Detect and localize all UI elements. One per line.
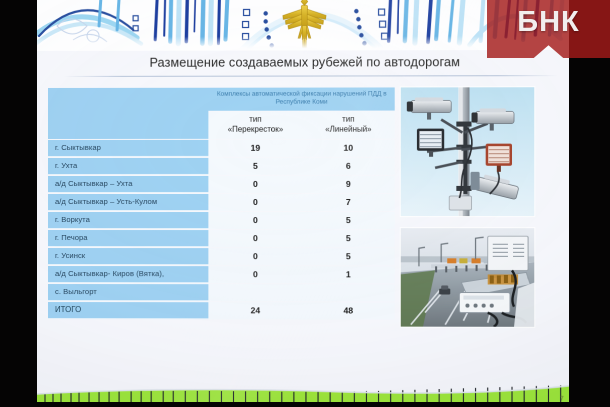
column-header-linear-line1: тип	[342, 114, 354, 123]
row-label: г. Воркута	[48, 212, 209, 229]
table-row: а/д Сыктывкар – Ухта 0 9	[48, 176, 395, 193]
row-crossroad-value: 0	[209, 266, 302, 283]
header-blank-cell	[48, 88, 209, 139]
bnk-watermark-text: БНК	[487, 0, 610, 44]
total-label: ИТОГО	[48, 302, 209, 319]
bnk-watermark-logo: БНК	[487, 0, 610, 58]
total-crossroad-value: 24	[209, 302, 302, 319]
row-crossroad-value: 0	[209, 176, 302, 193]
row-label: г. Сыктывкар	[48, 140, 209, 157]
table-header-group-row: Комплексы автоматической фиксации наруше…	[48, 87, 395, 110]
table-row: с. Выльгорт	[48, 284, 395, 301]
row-linear-value: 1	[302, 266, 395, 283]
column-header-linear-line2: «Линейный»	[325, 124, 371, 133]
row-crossroad-value: 19	[209, 140, 302, 157]
row-label: г. Усинск	[48, 248, 209, 265]
letterbox-left	[0, 0, 37, 407]
row-label: а/д Сыктывкар – Ухта	[48, 176, 209, 193]
table-group-header: Комплексы автоматической фиксации наруше…	[209, 87, 395, 110]
footer-pattern-graphic	[37, 380, 574, 403]
column-header-crossroad-line2: «Перекресток»	[228, 125, 283, 134]
table-row: г. Сыктывкар 19 10	[48, 140, 395, 157]
row-label: а/д Сыктывкар – Усть-Кулом	[48, 194, 209, 211]
row-label: г. Печора	[48, 230, 209, 247]
row-crossroad-value	[209, 284, 302, 301]
projection-screen: Размещение создаваемых рубежей по автодо…	[0, 0, 610, 407]
title-divider	[64, 75, 558, 77]
row-linear-value: 7	[302, 194, 395, 211]
table-row: а/д Сыктывкар- Киров (Вятка), 0 1	[48, 266, 395, 283]
table-body: г. Сыктывкар 19 10 г. Ухта 5 6 а/д Сыкты…	[48, 140, 395, 320]
presentation-slide: Размещение создаваемых рубежей по автодо…	[37, 0, 574, 403]
slide-footer-ornament: 7	[37, 380, 574, 403]
row-crossroad-value: 0	[209, 212, 302, 229]
letterbox-bottom	[0, 402, 610, 407]
row-crossroad-value: 5	[209, 158, 302, 175]
table-row: г. Воркута 0 5	[48, 212, 395, 229]
row-crossroad-value: 0	[209, 248, 302, 265]
row-linear-value: 5	[302, 230, 395, 247]
table-row: г. Печора 0 5	[48, 230, 395, 247]
highway-roadside-equipment-photo	[401, 228, 535, 327]
traffic-camera-pole-photo	[401, 87, 535, 216]
table-row: г. Ухта 5 6	[48, 158, 395, 175]
row-linear-value: 5	[302, 248, 395, 265]
row-label: с. Выльгорт	[48, 284, 209, 301]
row-label: а/д Сыктывкар- Киров (Вятка),	[48, 266, 209, 283]
row-linear-value: 6	[302, 158, 395, 175]
column-header-crossroad-line1: тип	[249, 115, 261, 124]
row-linear-value: 10	[302, 140, 395, 157]
row-crossroad-value: 0	[209, 230, 302, 247]
letterbox-right	[569, 0, 610, 407]
row-label: г. Ухта	[48, 158, 209, 175]
column-header-crossroad: тип «Перекресток»	[209, 111, 302, 138]
row-crossroad-value: 0	[209, 194, 302, 211]
table-total-row: ИТОГО 24 48	[48, 302, 395, 320]
row-linear-value	[302, 284, 395, 301]
table-row: г. Усинск 0 5	[48, 248, 395, 265]
road-complexes-table: Комплексы автоматической фиксации наруше…	[48, 86, 395, 320]
total-linear-value: 48	[302, 302, 395, 319]
column-header-linear: тип «Линейный»	[302, 111, 395, 138]
row-linear-value: 9	[302, 176, 395, 193]
table-row: а/д Сыктывкар – Усть-Кулом 0 7	[48, 194, 395, 211]
row-linear-value: 5	[302, 212, 395, 229]
